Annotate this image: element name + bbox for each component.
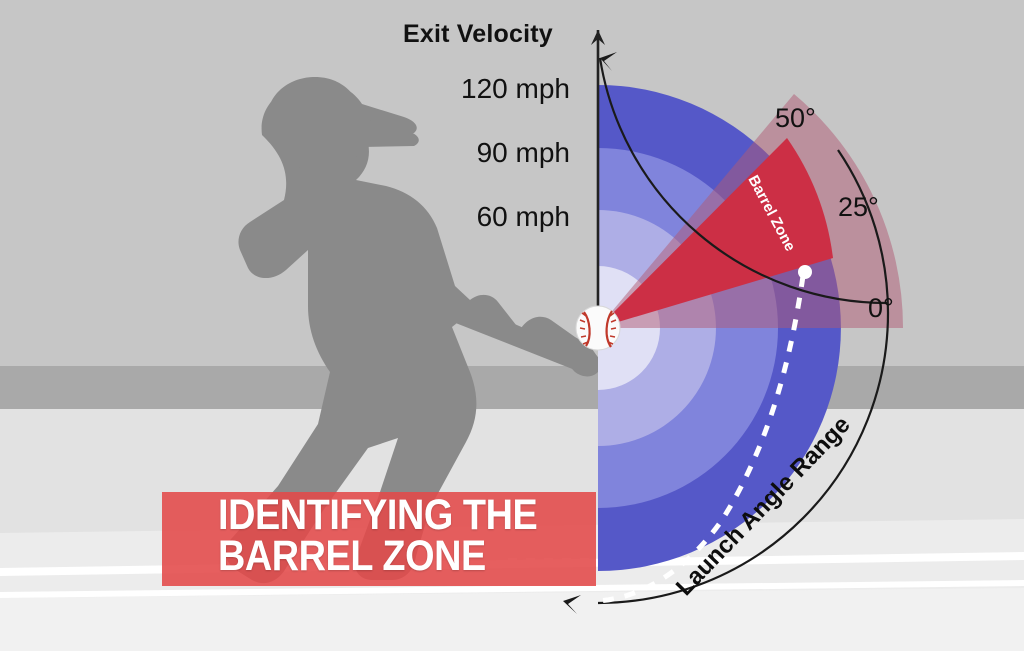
infographic-stage: Exit Velocity 120 mph 90 mph 60 mph 50° … (0, 0, 1024, 651)
y-tick-120: 120 mph (420, 73, 570, 105)
trajectory-point-marker (798, 265, 812, 279)
y-tick-90: 90 mph (420, 137, 570, 169)
field-band-2 (0, 588, 1024, 651)
angle-tick-0: 0° (868, 293, 894, 324)
title-banner-text: IDENTIFYING THE BARREL ZONE (218, 495, 588, 577)
angle-tick-50: 50° (775, 103, 816, 134)
background-stripe (0, 366, 1024, 409)
baseball-icon (576, 306, 620, 350)
title-line-1: IDENTIFYING THE (218, 495, 588, 536)
y-tick-60: 60 mph (420, 201, 570, 233)
angle-tick-25: 25° (838, 192, 879, 223)
y-axis-title: Exit Velocity (403, 20, 553, 49)
title-line-2: BARREL ZONE (218, 536, 588, 577)
